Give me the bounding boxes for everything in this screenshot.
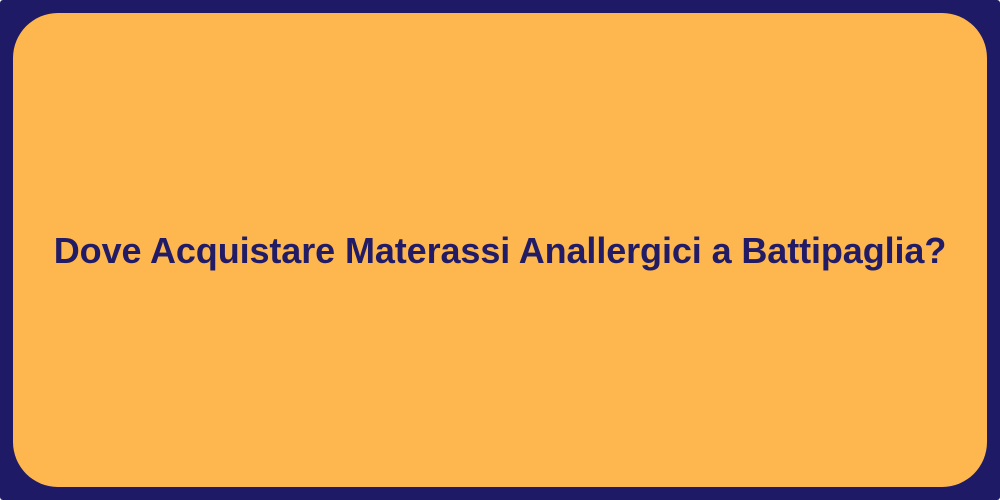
headline-container: Dove Acquistare Materassi Anallergici a … (13, 228, 987, 273)
page-title: Dove Acquistare Materassi Anallergici a … (54, 228, 946, 273)
card-panel: Dove Acquistare Materassi Anallergici a … (13, 13, 987, 487)
card-outer-frame: Dove Acquistare Materassi Anallergici a … (0, 0, 1000, 500)
